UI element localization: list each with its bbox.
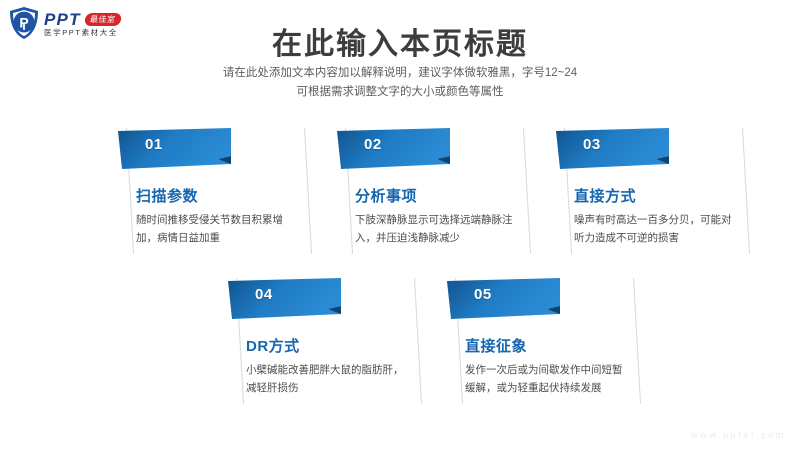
subtitle-line-2: 可根据需求调整文字的大小或颜色等属性: [0, 83, 800, 102]
card-body: 发作一次后或为间歇发作中间短暂缓解，或为轻重起伏持续发展: [465, 362, 625, 397]
card-body: 下肢深静脉显示可选择远端静脉注入，并压迫浅静脉减少: [355, 212, 515, 247]
card-right-rule: [523, 128, 531, 254]
card-right-rule: [304, 128, 312, 254]
card-right-rule: [742, 128, 750, 254]
card-number: 03: [583, 137, 601, 152]
subtitle-line-1: 请在此处添加文本内容加以解释说明，建议字体微软雅黑，字号12~24: [0, 64, 800, 83]
page-title: 在此输入本页标题: [0, 19, 800, 63]
card-number-ribbon: 01: [118, 128, 238, 170]
card-title: DR方式: [246, 335, 300, 356]
info-card[interactable]: 05 直接征象 发作一次后或为间歇发作中间短暂缓解，或为轻重起伏持续发展: [447, 278, 643, 428]
card-title: 直接方式: [574, 185, 636, 206]
card-number-ribbon: 04: [228, 278, 348, 320]
card-number: 02: [364, 137, 382, 152]
card-body: 随时间推移受侵关节数目积累增加，病情日益加重: [136, 212, 296, 247]
card-number: 05: [474, 287, 492, 302]
info-card[interactable]: 03 直接方式 噪声有时高达一百多分贝，可能对听力造成不可逆的损害: [556, 128, 752, 278]
info-card[interactable]: 04 DR方式 小檗碱能改善肥胖大鼠的脂肪肝，减轻肝损伤: [228, 278, 424, 428]
card-title: 分析事项: [355, 185, 417, 206]
card-title: 扫描参数: [136, 185, 198, 206]
card-number: 04: [255, 287, 273, 302]
info-card[interactable]: 02 分析事项 下肢深静脉显示可选择远端静脉注入，并压迫浅静脉减少: [337, 128, 533, 278]
info-card[interactable]: 01 扫描参数 随时间推移受侵关节数目积累增加，病情日益加重: [118, 128, 314, 278]
page-subtitle: 请在此处添加文本内容加以解释说明，建议字体微软雅黑，字号12~24 可根据需求调…: [0, 64, 800, 102]
site-watermark: www.ppter.com: [691, 430, 786, 440]
card-right-rule: [414, 278, 422, 404]
card-right-rule: [633, 278, 641, 404]
card-number: 01: [145, 137, 163, 152]
card-body: 小檗碱能改善肥胖大鼠的脂肪肝，减轻肝损伤: [246, 362, 406, 397]
card-title: 直接征象: [465, 335, 527, 356]
card-number-ribbon: 05: [447, 278, 567, 320]
card-body: 噪声有时高达一百多分贝，可能对听力造成不可逆的损害: [574, 212, 734, 247]
card-number-ribbon: 02: [337, 128, 457, 170]
card-number-ribbon: 03: [556, 128, 676, 170]
